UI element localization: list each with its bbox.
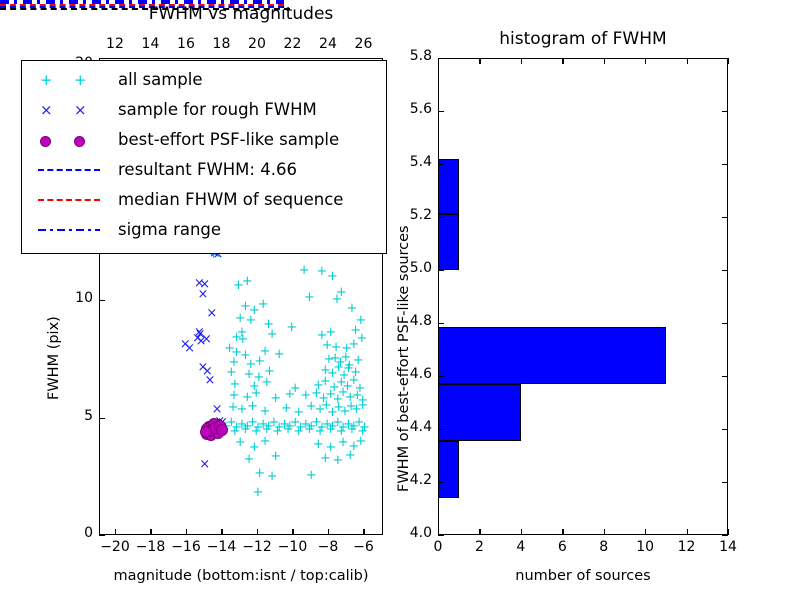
all-sample-point: + xyxy=(254,467,265,480)
legend-entry-5[interactable]: sigma range xyxy=(32,217,382,243)
legend-marker-dashdot-line-icon xyxy=(32,217,118,243)
hist-x-tick xyxy=(645,529,646,535)
histogram-bar xyxy=(438,327,666,384)
hist-y-tick xyxy=(438,429,444,430)
hist-y-tick-right xyxy=(722,58,728,59)
hist-x-tick-top xyxy=(728,58,729,64)
rough-sample-point: × xyxy=(197,288,208,301)
hist-y-tick-right xyxy=(722,535,728,536)
hist-x-tick-label: 4 xyxy=(501,539,541,555)
hist-y-tick-right xyxy=(722,164,728,165)
line-marker-icon xyxy=(38,199,100,201)
all-sample-point: + xyxy=(261,376,272,389)
all-sample-point: + xyxy=(293,425,304,438)
hist-x-tick-top xyxy=(479,58,480,64)
all-sample-point: + xyxy=(237,403,248,416)
all-sample-point: + xyxy=(272,425,283,438)
hist-y-tick xyxy=(438,111,444,112)
all-sample-point: + xyxy=(348,338,359,351)
y-tick xyxy=(99,300,105,301)
all-sample-point: + xyxy=(252,486,263,499)
legend-entry-0[interactable]: ++all sample xyxy=(32,67,382,93)
hist-y-tick-label: 4.0 xyxy=(388,525,432,541)
hist-y-tick xyxy=(438,535,444,536)
x-tick-label: −6 xyxy=(341,539,385,555)
legend-marker-plus-icon: ++ xyxy=(32,67,118,93)
all-sample-point: + xyxy=(286,321,297,334)
hist-x-tick-label: 8 xyxy=(584,539,624,555)
x-marker-icon: × xyxy=(40,103,53,118)
x-tick xyxy=(363,529,364,535)
histogram-bar xyxy=(438,214,459,270)
circle-marker-icon xyxy=(40,136,51,147)
rough-sample-point: × xyxy=(205,374,216,387)
all-sample-point: + xyxy=(274,348,285,361)
hist-y-tick-label: 5.6 xyxy=(388,101,432,117)
rough-sample-point: × xyxy=(199,458,210,471)
hist-x-tick-top xyxy=(562,58,563,64)
hist-y-tick-right xyxy=(722,323,728,324)
all-sample-point: + xyxy=(327,270,338,283)
legend-label: best-effort PSF-like sample xyxy=(118,127,339,153)
x-tick xyxy=(221,529,222,535)
y-tick-label: 0 xyxy=(55,525,93,541)
hist-x-tick-label: 2 xyxy=(459,539,499,555)
legend-marker-dashed-line-icon xyxy=(32,187,118,213)
hist-y-tick xyxy=(438,217,444,218)
legend-label: all sample xyxy=(118,67,203,93)
hist-x-tick-top xyxy=(604,58,605,64)
hist-x-tick-label: 12 xyxy=(667,539,707,555)
all-sample-point: + xyxy=(316,265,327,278)
all-sample-point: + xyxy=(260,435,271,448)
hist-x-tick xyxy=(687,529,688,535)
histogram-title: histogram of FWHM xyxy=(438,29,728,49)
hist-y-tick-right xyxy=(722,217,728,218)
all-sample-point: + xyxy=(306,469,317,482)
circle-marker-icon xyxy=(74,136,85,147)
all-sample-point: + xyxy=(281,402,292,415)
hist-x-tick-label: 6 xyxy=(542,539,582,555)
hist-y-tick-right xyxy=(722,429,728,430)
hist-y-tick-label: 5.8 xyxy=(388,48,432,64)
legend-label: sample for rough FWHM xyxy=(118,97,317,123)
hist-x-tick-label: 0 xyxy=(418,539,458,555)
line-marker-icon xyxy=(38,169,100,171)
hist-y-tick-label: 5.2 xyxy=(388,207,432,223)
all-sample-point: + xyxy=(235,436,246,449)
all-sample-point: + xyxy=(332,454,343,467)
rough-sample-point: × xyxy=(201,333,212,346)
y-tick-label: 5 xyxy=(55,408,93,424)
top-x-tick-label: 26 xyxy=(341,36,385,52)
hist-x-tick-top xyxy=(687,58,688,64)
y-tick-label: 10 xyxy=(55,290,93,306)
hist-y-tick-right xyxy=(722,270,728,271)
hist-x-tick-label: 10 xyxy=(625,539,665,555)
rough-sample-point: × xyxy=(206,307,217,320)
scatter-title: FWHM vs magnitudes xyxy=(99,4,383,24)
all-sample-point: + xyxy=(270,392,281,405)
legend-marker-x-icon: ×× xyxy=(32,97,118,123)
hist-x-tick xyxy=(562,529,563,535)
scatter-y-axis-label: FWHM (pix) xyxy=(46,316,62,400)
line-marker-icon xyxy=(38,229,100,231)
histogram-x-axis-label: number of sources xyxy=(438,568,728,584)
all-sample-point: + xyxy=(304,291,315,304)
hist-x-tick xyxy=(728,529,729,535)
legend-marker-circle-icon xyxy=(32,127,118,153)
all-sample-point: + xyxy=(247,400,258,413)
all-sample-point: + xyxy=(331,293,342,306)
hist-y-tick xyxy=(438,58,444,59)
all-sample-point: + xyxy=(325,326,336,339)
legend-entry-1[interactable]: ××sample for rough FWHM xyxy=(32,97,382,123)
hist-y-tick-label: 5.4 xyxy=(388,154,432,170)
legend-label: resultant FWHM: 4.66 xyxy=(118,157,297,183)
all-sample-point: + xyxy=(345,449,356,462)
hist-y-tick xyxy=(438,376,444,377)
histogram-bar xyxy=(438,441,459,498)
scatter-legend[interactable]: ++all sample××sample for rough FWHMbest-… xyxy=(21,60,387,254)
x-tick xyxy=(186,529,187,535)
all-sample-point: + xyxy=(357,399,368,412)
legend-entry-4[interactable]: median FHWM of sequence xyxy=(32,187,382,213)
hist-x-tick-label: 14 xyxy=(708,539,748,555)
legend-entry-3[interactable]: resultant FWHM: 4.66 xyxy=(32,157,382,183)
hist-x-tick-top xyxy=(645,58,646,64)
hist-x-tick-top xyxy=(521,58,522,64)
legend-entry-2[interactable]: best-effort PSF-like sample xyxy=(32,127,382,153)
x-tick xyxy=(150,529,151,535)
legend-marker-dashed-line-icon xyxy=(32,157,118,183)
all-sample-point: + xyxy=(284,388,295,401)
all-sample-point: + xyxy=(242,275,253,288)
histogram-bar xyxy=(438,159,459,215)
x-tick xyxy=(115,529,116,535)
psf-sample-point xyxy=(216,424,228,436)
all-sample-point: + xyxy=(235,312,246,325)
histogram-bar xyxy=(438,384,521,441)
all-sample-point: + xyxy=(283,423,294,436)
all-sample-point: + xyxy=(270,450,281,463)
all-sample-point: + xyxy=(315,425,326,438)
hist-x-tick xyxy=(604,529,605,535)
figure-canvas: FWHM vs magnitudes 1214161820222426 ++++… xyxy=(0,0,800,600)
hist-x-tick xyxy=(521,529,522,535)
hist-y-tick xyxy=(438,482,444,483)
legend-label: sigma range xyxy=(118,217,221,243)
plus-marker-icon: + xyxy=(40,73,53,88)
x-tick xyxy=(257,529,258,535)
scatter-x-axis-label: magnitude (bottom:isnt / top:calib) xyxy=(89,568,393,584)
all-sample-point: + xyxy=(325,423,336,436)
plus-marker-icon: + xyxy=(74,73,87,88)
hist-x-tick xyxy=(479,529,480,535)
all-sample-point: + xyxy=(304,423,315,436)
all-sample-point: + xyxy=(258,298,269,311)
x-tick xyxy=(328,529,329,535)
hist-y-tick xyxy=(438,323,444,324)
x-tick xyxy=(292,529,293,535)
hist-y-tick xyxy=(438,164,444,165)
all-sample-point: + xyxy=(267,328,278,341)
psf-sample-point xyxy=(200,426,212,438)
all-sample-point: + xyxy=(244,453,255,466)
hist-y-tick xyxy=(438,270,444,271)
all-sample-point: + xyxy=(355,435,366,448)
y-tick xyxy=(99,418,105,419)
hist-y-tick-right xyxy=(722,111,728,112)
all-sample-point: + xyxy=(299,264,310,277)
legend-label: median FHWM of sequence xyxy=(118,187,343,213)
all-sample-point: + xyxy=(267,470,278,483)
all-sample-point: + xyxy=(313,438,324,451)
all-sample-point: + xyxy=(320,452,331,465)
histogram-y-axis-label: FWHM of best-effort PSF-like sources xyxy=(396,225,412,492)
histogram-plot-frame[interactable] xyxy=(438,58,728,535)
hist-y-tick-right xyxy=(722,482,728,483)
hist-y-tick-right xyxy=(722,376,728,377)
x-marker-icon: × xyxy=(74,103,87,118)
y-tick xyxy=(99,535,105,536)
